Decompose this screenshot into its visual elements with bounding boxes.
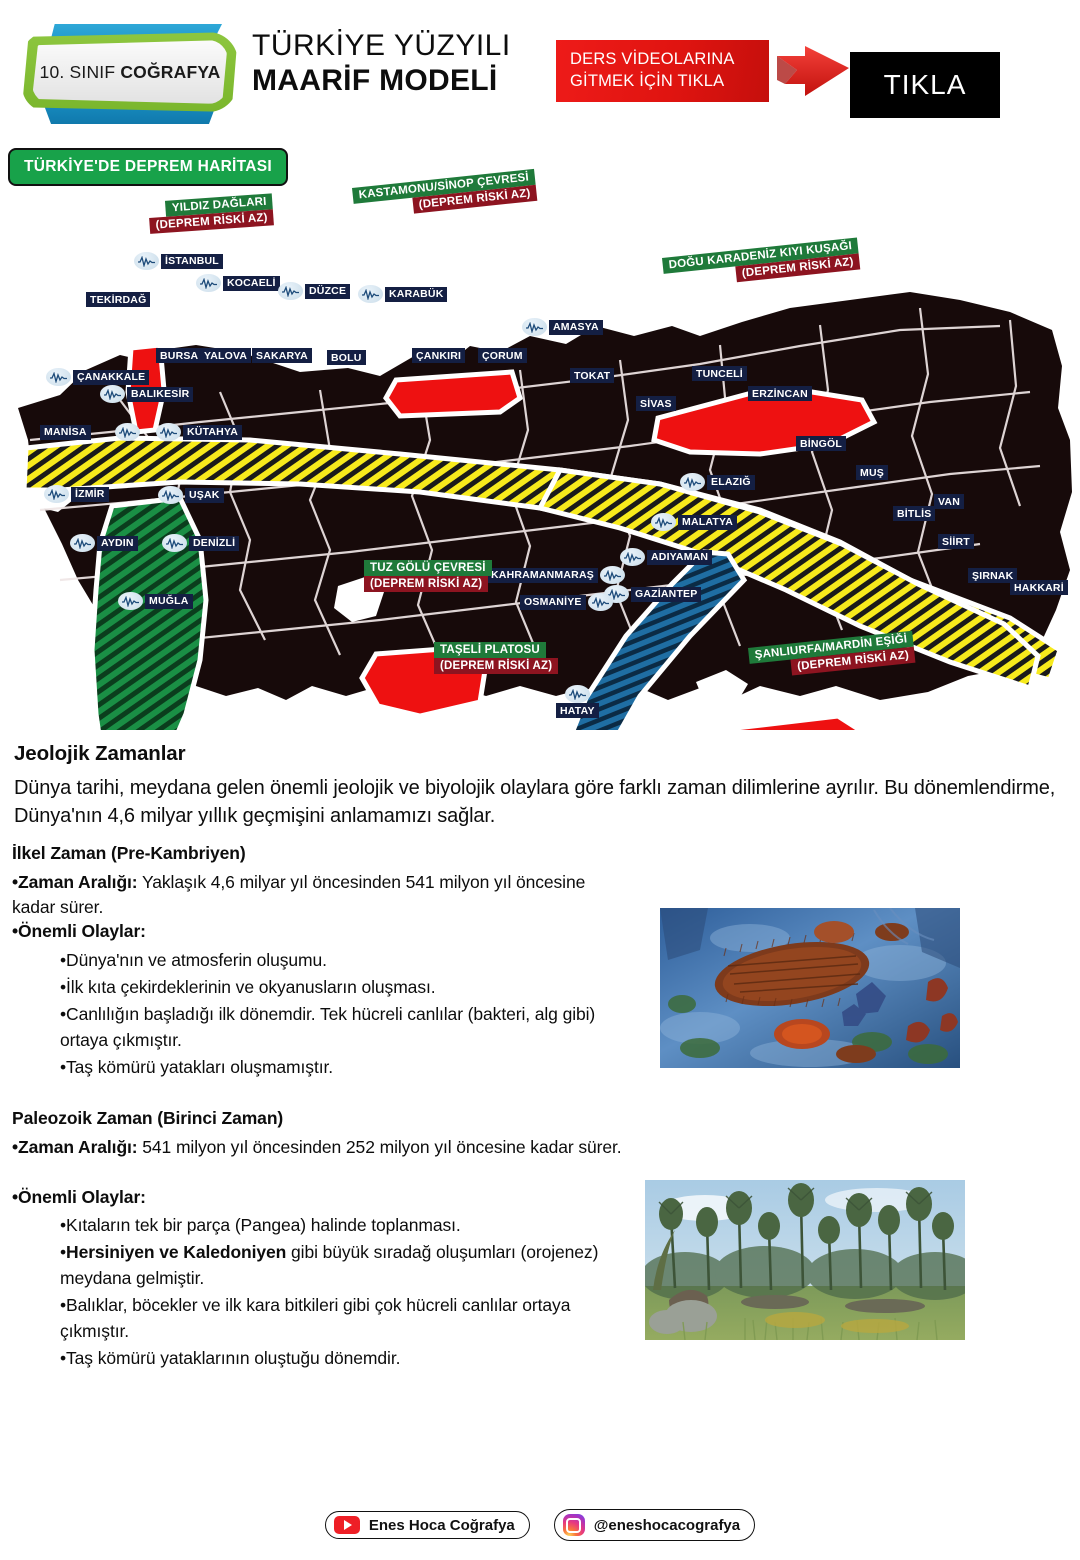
city-marker-kutahya: KÜTAHYA bbox=[156, 423, 242, 441]
region-tag-tuz-golu: TUZ GÖLÜ ÇEVRESİ (DEPREM RİSKİ AZ) bbox=[364, 560, 492, 592]
earthquake-icon bbox=[651, 513, 676, 531]
youtube-label: Enes Hoca Coğrafya bbox=[369, 1517, 515, 1534]
era1-events-label: •Önemli Olaylar: bbox=[12, 919, 146, 944]
turkey-earthquake-map: E A bbox=[0, 140, 1080, 730]
city-marker-corum: ÇORUM bbox=[478, 348, 527, 363]
city-marker-amasya: AMASYA bbox=[522, 318, 603, 336]
city-marker-duzce: DÜZCE bbox=[278, 282, 350, 300]
city-label: ERZİNCAN bbox=[748, 386, 812, 401]
era1-range-label: •Zaman Aralığı: bbox=[12, 872, 138, 892]
city-label: TUNCELİ bbox=[692, 366, 747, 381]
earthquake-icon bbox=[70, 534, 95, 552]
course-logo-badge: 10. SINIF COĞRAFYA bbox=[22, 22, 244, 122]
city-marker-hakkari: HAKKARİ bbox=[1010, 580, 1068, 595]
era1-range: •Zaman Aralığı: Yaklaşık 4,6 milyar yıl … bbox=[12, 870, 632, 921]
city-label: MUŞ bbox=[856, 465, 888, 480]
city-marker-gaziantep: GAZİANTEP bbox=[604, 585, 701, 603]
youtube-chip[interactable]: Enes Hoca Coğrafya bbox=[325, 1511, 530, 1539]
earthquake-icon bbox=[278, 282, 303, 300]
youtube-icon bbox=[334, 1516, 360, 1534]
page-title-line1: TÜRKİYE YÜZYILI bbox=[252, 28, 552, 63]
city-marker-adiyaman: ADIYAMAN bbox=[620, 548, 712, 566]
city-marker-karabuk: KARABÜK bbox=[358, 285, 447, 303]
tikla-button-label: TIKLA bbox=[884, 69, 967, 101]
earthquake-icon bbox=[620, 548, 645, 566]
city-label: YALOVA bbox=[200, 348, 251, 363]
city-marker-yalova: YALOVA bbox=[200, 348, 251, 363]
city-label: KÜTAHYA bbox=[183, 425, 242, 440]
city-marker-aydin: AYDIN bbox=[70, 534, 138, 552]
paleozoic-forest-illustration bbox=[645, 1180, 965, 1340]
earthquake-icon bbox=[44, 485, 69, 503]
city-label: OSMANİYE bbox=[520, 595, 586, 610]
logo-text-grade: 10. SINIF bbox=[40, 62, 121, 82]
city-label: DÜZCE bbox=[305, 284, 350, 299]
city-label: İSTANBUL bbox=[161, 254, 223, 269]
era1-heading: İlkel Zaman (Pre-Kambriyen) bbox=[12, 843, 246, 864]
city-label: AYDIN bbox=[97, 536, 138, 551]
earthquake-icon bbox=[115, 423, 140, 441]
earthquake-icon bbox=[680, 473, 705, 491]
city-label: SAKARYA bbox=[252, 348, 312, 363]
city-label: TEKİRDAĞ bbox=[86, 292, 150, 307]
earthquake-icon bbox=[196, 274, 221, 292]
city-marker-van: VAN bbox=[934, 494, 964, 509]
map-title-badge: TÜRKİYE'DE DEPREM HARİTASI bbox=[8, 148, 288, 186]
city-label: BİTLİS bbox=[893, 506, 935, 521]
era2-event-item: •Taş kömürü yataklarının oluştuğu dönemd… bbox=[60, 1346, 630, 1372]
logo-text-subject: COĞRAFYA bbox=[120, 62, 220, 82]
city-label: ADIYAMAN bbox=[647, 550, 712, 565]
social-footer: Enes Hoca Coğrafya @eneshocacografya bbox=[0, 1505, 1080, 1545]
earthquake-icon bbox=[600, 566, 625, 584]
earthquake-icon bbox=[46, 368, 71, 386]
era1-event-item: •Taş kömürü yatakları oluşmamıştır. bbox=[60, 1055, 640, 1081]
city-label: BİNGÖL bbox=[796, 436, 846, 451]
instagram-chip[interactable]: @eneshocacografya bbox=[554, 1509, 755, 1541]
city-marker-sivas: SİVAS bbox=[636, 396, 676, 411]
right-arrow-icon bbox=[775, 44, 853, 100]
city-marker-elazig: ELAZIĞ bbox=[680, 473, 755, 491]
city-marker-erzincan: ERZİNCAN bbox=[748, 386, 812, 401]
city-label: SİİRT bbox=[938, 534, 974, 549]
earthquake-icon bbox=[588, 593, 613, 611]
section-lead-paragraph: Dünya tarihi, meydana gelen önemli jeolo… bbox=[14, 774, 1066, 831]
page-title: TÜRKİYE YÜZYILI MAARİF MODELİ bbox=[252, 28, 552, 99]
era2-event-item-bold: •Hersiniyen ve Kaledoniyen gibi büyük sı… bbox=[60, 1240, 630, 1292]
city-marker-tunceli: TUNCELİ bbox=[692, 366, 747, 381]
era2-events-label: •Önemli Olaylar: bbox=[12, 1185, 146, 1210]
city-marker-mus: MUŞ bbox=[856, 465, 888, 480]
city-label: MUĞLA bbox=[145, 594, 193, 609]
city-label: MANİSA bbox=[40, 425, 91, 440]
city-marker-sakarya: SAKARYA bbox=[252, 348, 312, 363]
precambrian-sea-illustration bbox=[660, 908, 960, 1068]
city-label: BURSA bbox=[156, 348, 202, 363]
city-marker-canakkale: ÇANAKKALE bbox=[46, 368, 149, 386]
city-marker-tekirdag: TEKİRDAĞ bbox=[86, 292, 150, 307]
city-marker-tokat: TOKAT bbox=[570, 368, 614, 383]
era2-range: •Zaman Aralığı: 541 milyon yıl öncesinde… bbox=[12, 1135, 632, 1160]
page-header: 10. SINIF COĞRAFYA TÜRKİYE YÜZYILI MAARİ… bbox=[0, 0, 1080, 138]
city-label: SİVAS bbox=[636, 396, 676, 411]
city-marker-manisa: MANİSA bbox=[40, 423, 140, 441]
region-tag-taseli-platosu: TAŞELİ PLATOSU (DEPREM RİSKİ AZ) bbox=[434, 642, 558, 674]
city-label: ÇANKIRI bbox=[412, 348, 465, 363]
city-marker-mugla: MUĞLA bbox=[118, 592, 193, 610]
city-marker-istanbul: İSTANBUL bbox=[134, 252, 223, 270]
section-heading: Jeolojik Zamanlar bbox=[14, 742, 185, 766]
earthquake-icon bbox=[156, 423, 181, 441]
city-label: KARABÜK bbox=[385, 287, 447, 302]
era2-event-item: •Kıtaların tek bir parça (Pangea) halind… bbox=[60, 1213, 630, 1239]
city-label: KOCAELİ bbox=[223, 276, 280, 291]
region-tag-risk: (DEPREM RİSKİ AZ) bbox=[434, 658, 558, 674]
region-tag-risk: (DEPREM RİSKİ AZ) bbox=[364, 576, 488, 592]
video-cta-line1: DERS VİDEOLARINA bbox=[570, 49, 769, 71]
city-marker-bitlis: BİTLİS bbox=[893, 506, 935, 521]
earthquake-icon bbox=[134, 252, 159, 270]
video-cta-banner[interactable]: DERS VİDEOLARINA GİTMEK İÇİN TIKLA bbox=[556, 40, 769, 102]
video-cta-line2: GİTMEK İÇİN TIKLA bbox=[570, 71, 769, 93]
city-marker-denizli: DENİZLİ bbox=[162, 534, 239, 552]
city-marker-malatya: MALATYA bbox=[651, 513, 737, 531]
region-tag-name: TUZ GÖLÜ ÇEVRESİ bbox=[364, 560, 492, 576]
city-label: BOLU bbox=[327, 350, 366, 365]
city-marker-osmaniye: OSMANİYE bbox=[520, 593, 613, 611]
city-label: DENİZLİ bbox=[189, 536, 239, 551]
era1-event-item: •Canlılığın başladığı ilk dönemdir. Tek … bbox=[60, 1002, 638, 1054]
era2-event-item: •Balıklar, böcekler ve ilk kara bitkiler… bbox=[60, 1293, 630, 1345]
city-label: UŞAK bbox=[185, 488, 224, 503]
city-marker-kocaeli: KOCAELİ bbox=[196, 274, 280, 292]
earthquake-icon bbox=[358, 285, 383, 303]
city-marker-bursa: BURSA bbox=[156, 348, 202, 363]
logo-plate: 10. SINIF COĞRAFYA bbox=[22, 32, 238, 112]
earthquake-icon bbox=[565, 685, 590, 703]
era2-heading: Paleozoik Zaman (Birinci Zaman) bbox=[12, 1108, 283, 1129]
logo-text: 10. SINIF COĞRAFYA bbox=[40, 62, 221, 83]
city-label: HAKKARİ bbox=[1010, 580, 1068, 595]
era1-event-item: •İlk kıta çekirdeklerinin ve okyanusları… bbox=[60, 975, 640, 1001]
city-label: ÇORUM bbox=[478, 348, 527, 363]
tikla-button[interactable]: TIKLA bbox=[850, 52, 1000, 118]
city-marker-hatay: HATAY bbox=[556, 685, 599, 718]
era2-range-label: •Zaman Aralığı: bbox=[12, 1137, 138, 1157]
city-label: GAZİANTEP bbox=[631, 587, 701, 602]
city-marker-balikesir: BALIKESİR bbox=[100, 385, 193, 403]
page-title-line2: MAARİF MODELİ bbox=[252, 63, 552, 98]
city-marker-cankiri: ÇANKIRI bbox=[412, 348, 465, 363]
city-marker-izmir: İZMİR bbox=[44, 485, 109, 503]
earthquake-icon bbox=[162, 534, 187, 552]
instagram-icon bbox=[563, 1514, 585, 1536]
city-label: ÇANAKKALE bbox=[73, 370, 149, 385]
logo-inner-plate: 10. SINIF COĞRAFYA bbox=[32, 40, 228, 104]
earthquake-icon bbox=[522, 318, 547, 336]
instagram-label: @eneshocacografya bbox=[594, 1517, 740, 1534]
city-marker-siirt: SİİRT bbox=[938, 534, 974, 549]
earthquake-icon bbox=[100, 385, 125, 403]
city-label: VAN bbox=[934, 494, 964, 509]
city-marker-bingol: BİNGÖL bbox=[796, 436, 846, 451]
region-tag-name: TAŞELİ PLATOSU bbox=[434, 642, 546, 658]
city-label: KAHRAMANMARAŞ bbox=[487, 568, 598, 583]
era1-event-item: •Dünya'nın ve atmosferin oluşumu. bbox=[60, 948, 640, 974]
earthquake-icon bbox=[118, 592, 143, 610]
city-label: MALATYA bbox=[678, 515, 737, 530]
city-label: TOKAT bbox=[570, 368, 614, 383]
city-label: HATAY bbox=[556, 703, 599, 718]
city-marker-usak: UŞAK bbox=[158, 486, 224, 504]
earthquake-icon bbox=[158, 486, 183, 504]
era2-range-text: 541 milyon yıl öncesinden 252 milyon yıl… bbox=[138, 1137, 622, 1157]
city-label: İZMİR bbox=[71, 487, 109, 502]
city-label: ELAZIĞ bbox=[707, 475, 755, 490]
map-title-label: TÜRKİYE'DE DEPREM HARİTASI bbox=[24, 158, 272, 176]
city-label: BALIKESİR bbox=[127, 387, 193, 402]
city-marker-bolu: BOLU bbox=[327, 350, 366, 365]
city-label: AMASYA bbox=[549, 320, 603, 335]
city-marker-kahramanmaras: KAHRAMANMARAŞ bbox=[487, 566, 625, 584]
